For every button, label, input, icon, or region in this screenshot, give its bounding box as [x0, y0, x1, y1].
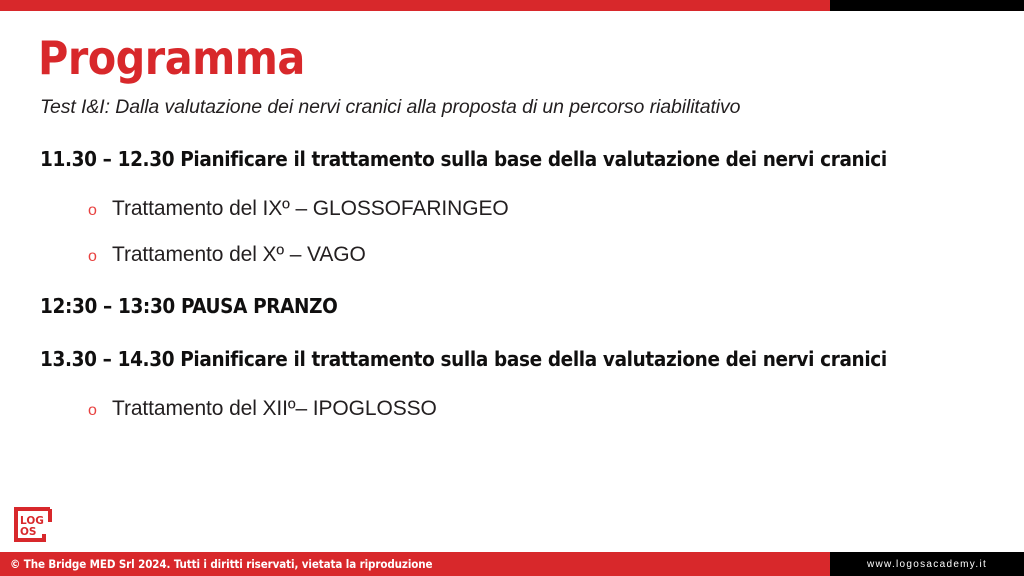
logos-logo: LOG OS [13, 506, 53, 543]
bullet-list: o Trattamento del IXº – GLOSSOFARINGEO o… [0, 197, 1024, 267]
top-bar-red-segment [0, 0, 830, 11]
list-item: o Trattamento del XIIº– IPOGLOSSO [88, 397, 1024, 421]
list-item: o Trattamento del IXº – GLOSSOFARINGEO [88, 197, 1024, 221]
program-content: 11.30 – 12.30 Pianificare il trattamento… [0, 146, 1024, 421]
schedule-heading: 11.30 – 12.30 Pianificare il trattamento… [40, 146, 984, 173]
logos-logo-icon: LOG OS [13, 506, 53, 543]
bullet-marker-icon: o [88, 402, 112, 420]
page-subtitle: Test I&I: Dalla valutazione dei nervi cr… [40, 96, 740, 119]
list-item-label: Trattamento del XIIº– IPOGLOSSO [112, 397, 437, 421]
bullet-list: o Trattamento del XIIº– IPOGLOSSO [0, 397, 1024, 421]
page-title: Programma [38, 34, 305, 82]
footer-copyright: © The Bridge MED Srl 2024. Tutti i dirit… [0, 552, 830, 576]
top-accent-bar [0, 0, 1024, 11]
bullet-marker-icon: o [88, 248, 112, 266]
list-item-label: Trattamento del IXº – GLOSSOFARINGEO [112, 197, 509, 221]
top-bar-black-segment [830, 0, 1024, 11]
schedule-heading: 12:30 – 13:30 PAUSA PRANZO [40, 293, 984, 320]
list-item-label: Trattamento del Xº – VAGO [112, 243, 366, 267]
logo-text-line2: OS [20, 526, 37, 538]
list-item: o Trattamento del Xº – VAGO [88, 243, 1024, 267]
footer-website: www.logosacademy.it [830, 552, 1024, 576]
schedule-heading: 13.30 – 14.30 Pianificare il trattamento… [40, 346, 984, 373]
bullet-marker-icon: o [88, 202, 112, 220]
footer: © The Bridge MED Srl 2024. Tutti i dirit… [0, 552, 1024, 576]
